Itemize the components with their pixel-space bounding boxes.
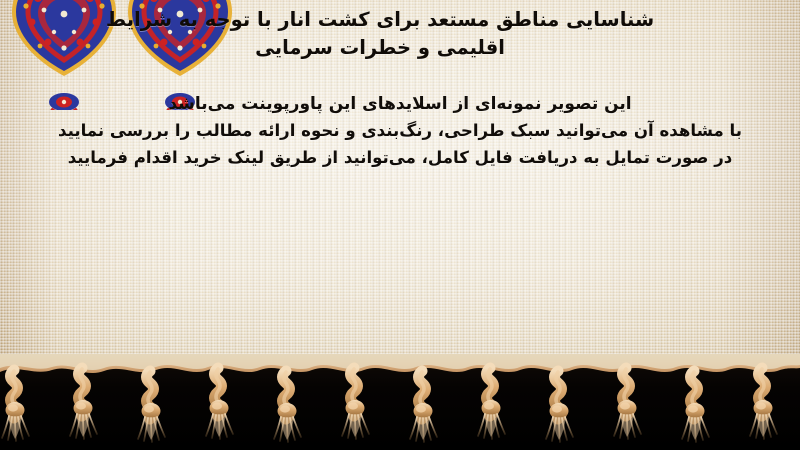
slide-title: شناسایی مناطق مستعد برای کشت انار با توج…	[100, 6, 700, 63]
slide-body: این تصویر نمونه‌ای از اسلایدهای این پاور…	[18, 91, 782, 172]
black-bottom-band	[0, 354, 800, 450]
slide-text-area: شناسایی مناطق مستعد برای کشت انار با توج…	[0, 0, 800, 300]
title-line-1: شناسایی مناطق مستعد برای کشت انار با توج…	[100, 6, 660, 34]
title-line-2: اقلیمی و خطرات سرمایی	[100, 34, 660, 62]
body-line-3: در صورت تمایل به دریافت فایل کامل، می‌تو…	[18, 145, 782, 172]
body-line-1: این تصویر نمونه‌ای از اسلایدهای این پاور…	[18, 91, 782, 119]
body-line-2: با مشاهده آن می‌توانید سبک طراحی، رنگ‌بن…	[18, 118, 782, 145]
presentation-slide: شناسایی مناطق مستعد برای کشت انار با توج…	[0, 0, 800, 450]
